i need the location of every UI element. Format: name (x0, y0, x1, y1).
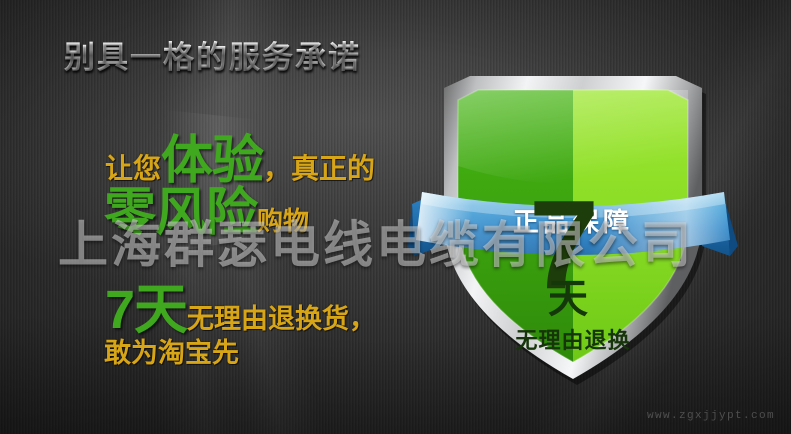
shield-gloss (458, 90, 688, 184)
copy-line-2: 零风险购物 (104, 187, 309, 239)
copy-line-1-suffix: ，真正的 (263, 153, 375, 184)
copy-line-3: 7天无理由退换货， (105, 283, 376, 337)
copy-line-1: 让您体验，真正的 (105, 135, 375, 187)
copy-line-3-emphasis: 7天 (105, 280, 187, 340)
copy-line-2-suffix: 购物 (257, 206, 309, 236)
promo-banner: 别具一格的服务承诺 别具一格的服务承诺 让您体验，真正的 零风险购物 7天无理由… (0, 0, 791, 434)
guarantee-shield-badge: 正品保障 7 天 无理由退换 (408, 70, 738, 385)
copy-line-3-suffix: 无理由退换货， (187, 304, 376, 334)
promo-copy-block: 让您体验，真正的 零风险购物 7天无理由退换货， 敢为淘宝先 (0, 0, 440, 434)
copy-line-2-emphasis: 零风险 (104, 184, 257, 242)
copy-line-4: 敢为淘宝先 (104, 340, 239, 367)
copy-line-1-prefix: 让您 (105, 153, 161, 184)
site-url: www.zgxjjypt.com (647, 410, 775, 422)
copy-line-1-emphasis: 体验 (161, 132, 263, 190)
